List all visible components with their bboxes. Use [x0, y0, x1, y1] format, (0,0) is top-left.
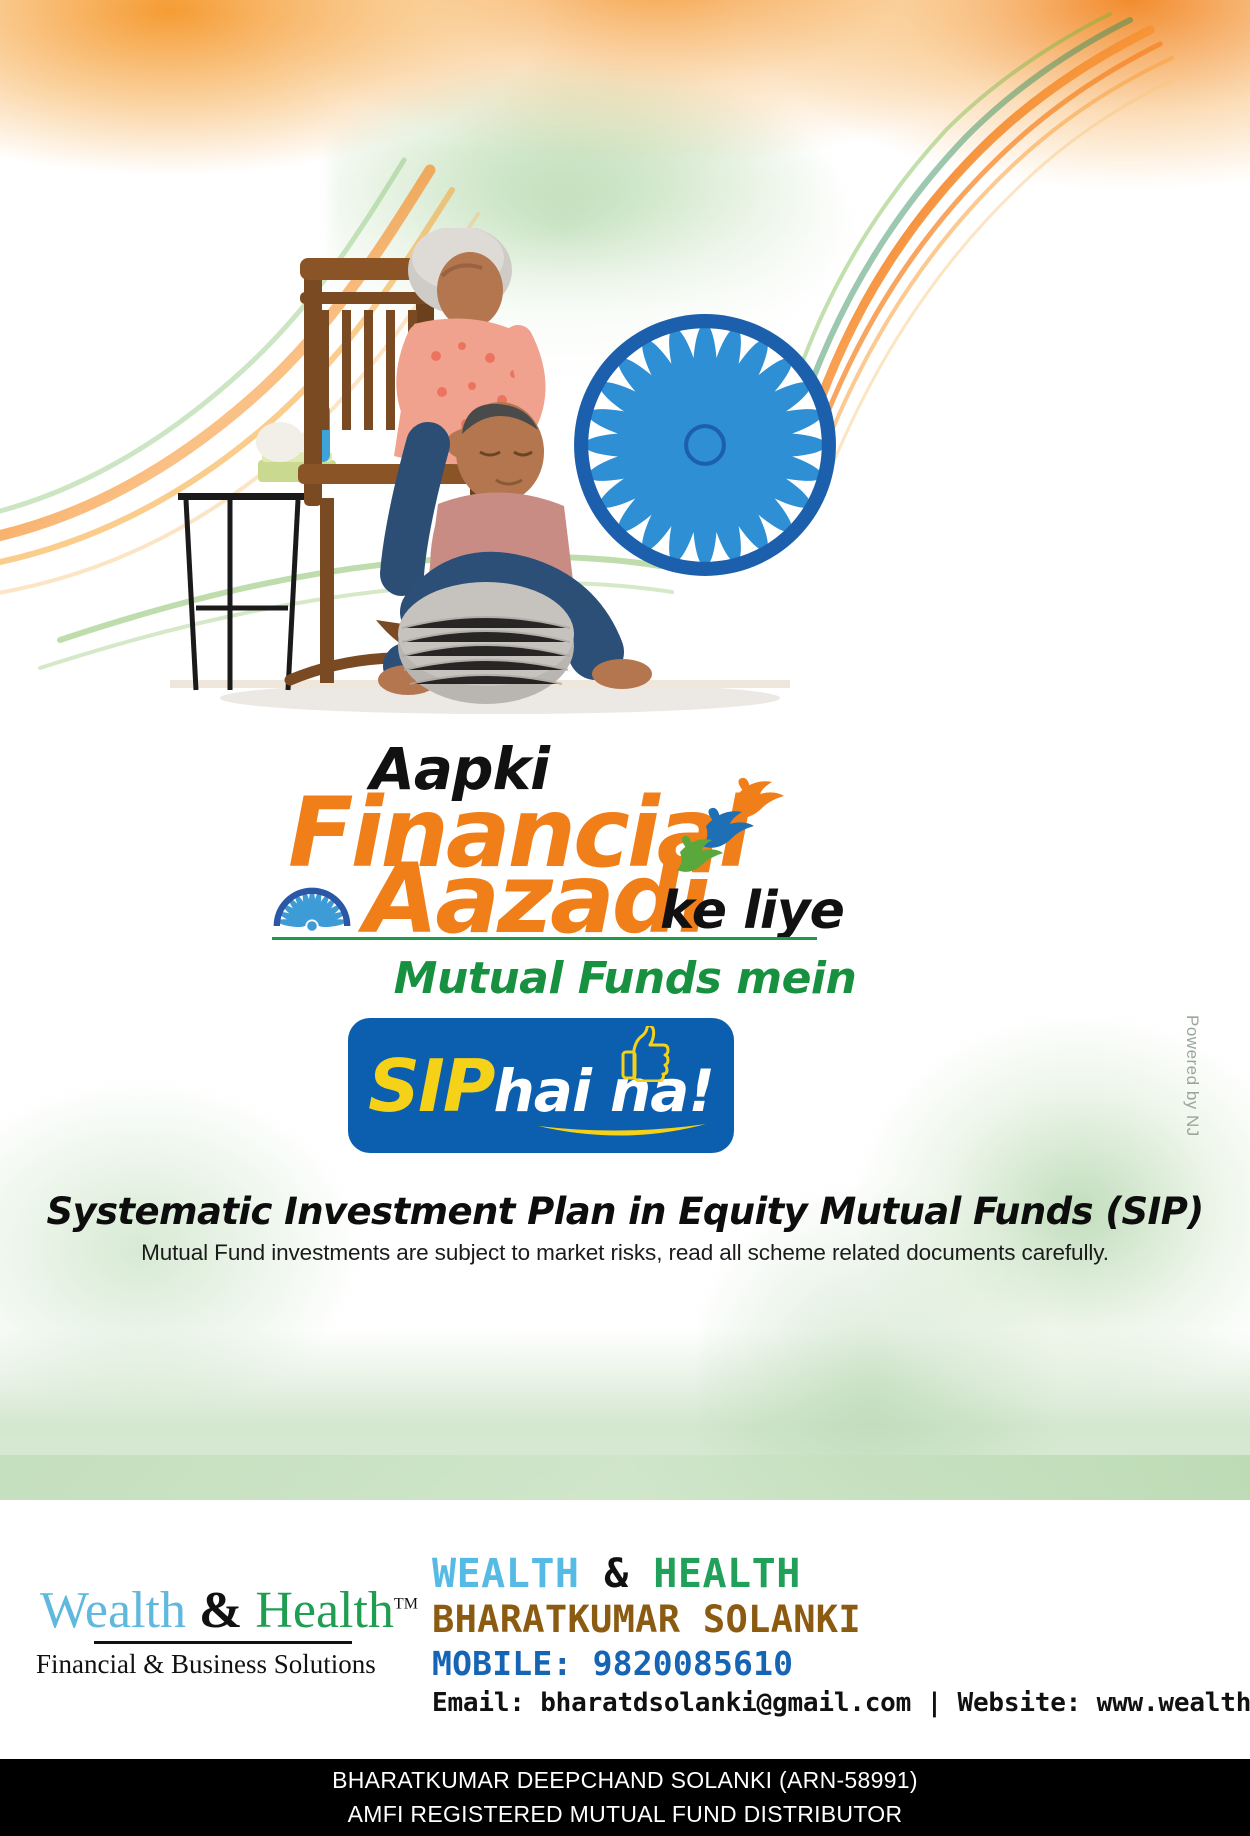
- ashoka-chakra-icon: [272, 875, 352, 937]
- hero-banner: [0, 0, 1250, 1500]
- brand-logo: Wealth & HealthTM Financial & Business S…: [36, 1585, 366, 1680]
- brand-logo-wordmark: Wealth & HealthTM: [36, 1585, 366, 1637]
- brand-logo-wealth: Wealth: [40, 1582, 186, 1639]
- contact-footer: Wealth & HealthTM Financial & Business S…: [0, 1507, 1250, 1759]
- regulatory-footer-bar: BHARATKUMAR DEEPCHAND SOLANKI (ARN-58991…: [0, 1759, 1250, 1836]
- contact-brand-wealth: WEALTH: [432, 1551, 580, 1597]
- brand-logo-divider: [94, 1641, 352, 1644]
- email-address[interactable]: bharatdsolanki@gmail.com: [540, 1688, 911, 1718]
- brand-logo-ampersand: &: [199, 1582, 242, 1639]
- footer-arn-line: BHARATKUMAR DEEPCHAND SOLANKI (ARN-58991…: [332, 1764, 918, 1797]
- contact-brand-health: HEALTH: [653, 1551, 801, 1597]
- sip-badge: SIPhai na!: [348, 1018, 734, 1153]
- contact-details: WEALTH & HEALTH BHARATKUMAR SOLANKI MOBI…: [432, 1551, 1232, 1721]
- email-website-line[interactable]: Email: bharatdsolanki@gmail.com | Websit…: [432, 1686, 1232, 1721]
- contact-brand-line: WEALTH & HEALTH: [432, 1551, 1232, 1597]
- headline-aazadi-row: Aazadi ke liye: [272, 863, 972, 947]
- elderly-couple-photo: [170, 228, 790, 728]
- flying-doves-icon: [672, 770, 802, 900]
- sip-word: SIP: [368, 1044, 493, 1128]
- powered-by-watermark: Powered by NJ: [1182, 1015, 1202, 1137]
- advisor-name: BHARATKUMAR SOLANKI: [432, 1597, 1232, 1643]
- headline-divider: [272, 937, 817, 940]
- sip-full-form-heading: Systematic Investment Plan in Equity Mut…: [0, 1190, 1250, 1233]
- thumbs-up-icon: [620, 1026, 670, 1082]
- headline-aazadi: Aazadi: [364, 851, 707, 947]
- sip-badge-text: SIPhai na!: [348, 1044, 734, 1128]
- email-label: Email:: [432, 1688, 525, 1718]
- contact-separator: |: [927, 1688, 942, 1718]
- footer-amfi-line: AMFI REGISTERED MUTUAL FUND DISTRIBUTOR: [348, 1798, 903, 1831]
- headline-mutual-funds-mein: Mutual Funds mein: [0, 953, 1250, 1004]
- sip-tagline: hai na!: [494, 1057, 714, 1125]
- mobile-number[interactable]: 9820085610: [593, 1644, 794, 1683]
- contact-brand-ampersand: &: [604, 1551, 629, 1597]
- risk-disclaimer-text: Mutual Fund investments are subject to m…: [0, 1240, 1250, 1266]
- sip-underline-swoosh: [536, 1122, 708, 1140]
- brand-logo-tagline: Financial & Business Solutions: [36, 1649, 366, 1680]
- website-label: Website:: [958, 1688, 1082, 1718]
- mobile-line[interactable]: MOBILE: 9820085610: [432, 1643, 1232, 1686]
- website-url[interactable]: www.wealthnhealth.in: [1097, 1688, 1250, 1718]
- mobile-label: MOBILE:: [432, 1644, 572, 1683]
- green-strip-background: [0, 1455, 1250, 1500]
- trademark-mark: TM: [394, 1596, 418, 1613]
- brand-logo-health: Health: [255, 1582, 394, 1639]
